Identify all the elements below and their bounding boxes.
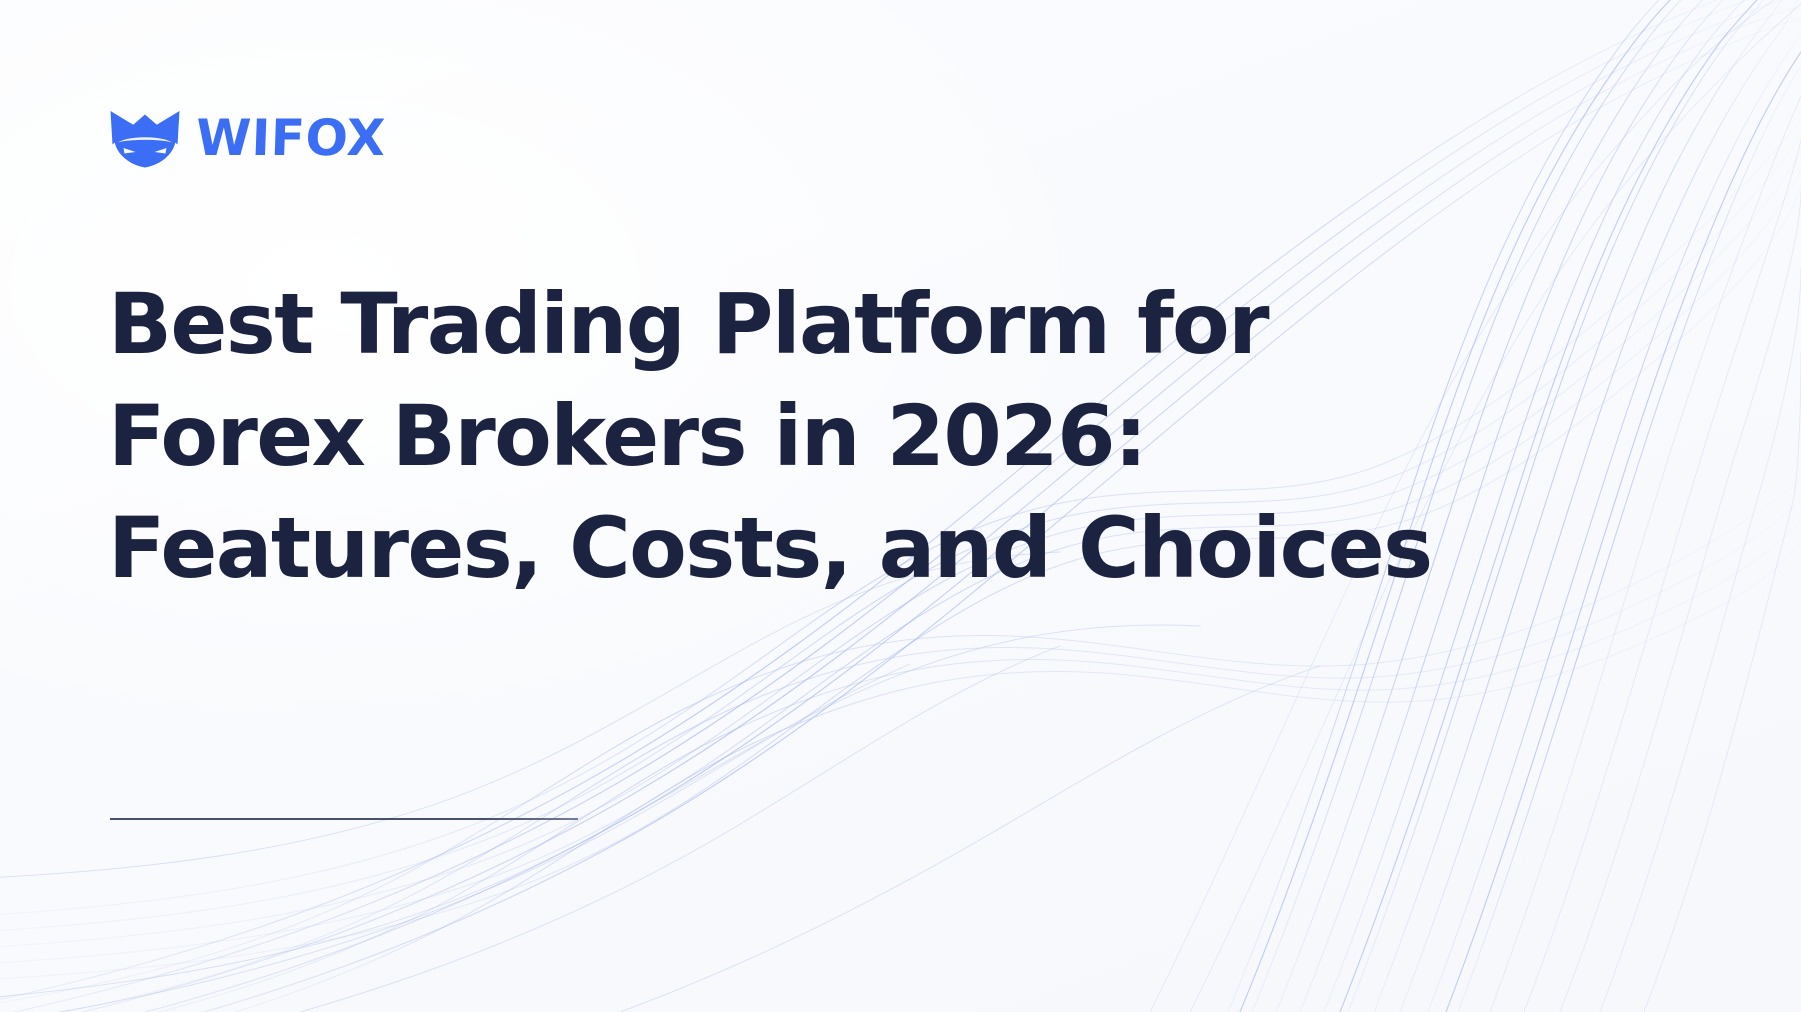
- fox-head-icon: [108, 107, 182, 169]
- page-title-line-3: Features, Costs, and Choices: [108, 492, 1528, 604]
- title-divider-rule: [110, 818, 578, 820]
- page-title-line-1: Best Trading Platform for: [108, 268, 1528, 380]
- page-title-line-2: Forex Brokers in 2026:: [108, 380, 1528, 492]
- title-card-canvas: WIFOX Best Trading Platform for Forex Br…: [0, 0, 1801, 1012]
- brand-wordmark: WIFOX: [195, 113, 386, 163]
- page-title: Best Trading Platform for Forex Brokers …: [108, 268, 1528, 604]
- brand-logo[interactable]: WIFOX: [108, 106, 386, 170]
